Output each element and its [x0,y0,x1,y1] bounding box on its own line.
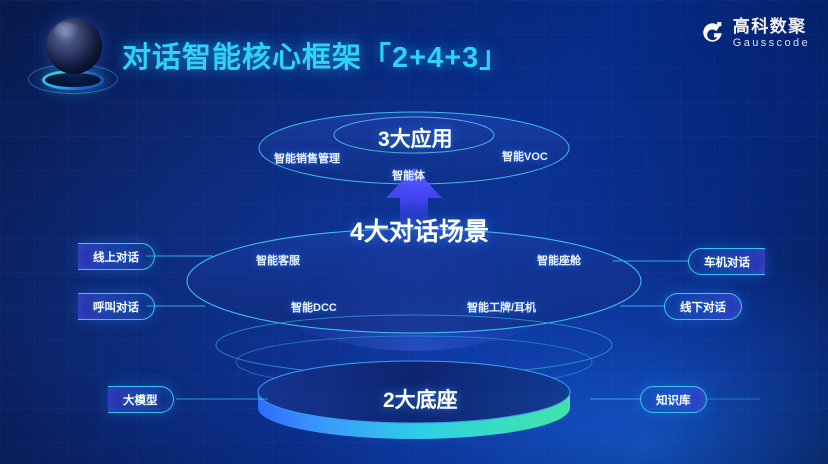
pill-large-model[interactable]: 大模型 [108,386,174,413]
item-smart-sales-management: 智能销售管理 [274,150,340,166]
pill-call-dialogue[interactable]: 呼叫对话 [78,293,155,320]
layer-title-foundation: 2大底座 [383,384,458,414]
pill-in-car-dialogue[interactable]: 车机对话 [688,248,765,275]
layer-title-scenarios: 4大对话场景 [350,212,489,248]
layer-title-applications: 3大应用 [378,123,453,153]
pill-offline-dialogue[interactable]: 线下对话 [664,293,742,320]
item-smart-voc: 智能VOC [502,148,548,164]
item-smart-agent: 智能体 [392,167,425,183]
item-smart-badge-headset: 智能工牌/耳机 [467,299,536,315]
slide-canvas: 对话智能核心框架「2+4+3」 高科数聚 Gausscode [0,0,828,464]
pill-online-dialogue[interactable]: 线上对话 [78,243,155,270]
pill-knowledge-base[interactable]: 知识库 [640,386,707,413]
framework-diagram: 3大应用 4大对话场景 2大底座 智能销售管理 智能VOC 智能体 智能客服 智… [0,0,828,464]
item-smart-customer-service: 智能客服 [256,252,300,268]
item-smart-dcc: 智能DCC [291,299,337,315]
item-smart-cockpit: 智能座舱 [537,252,581,268]
